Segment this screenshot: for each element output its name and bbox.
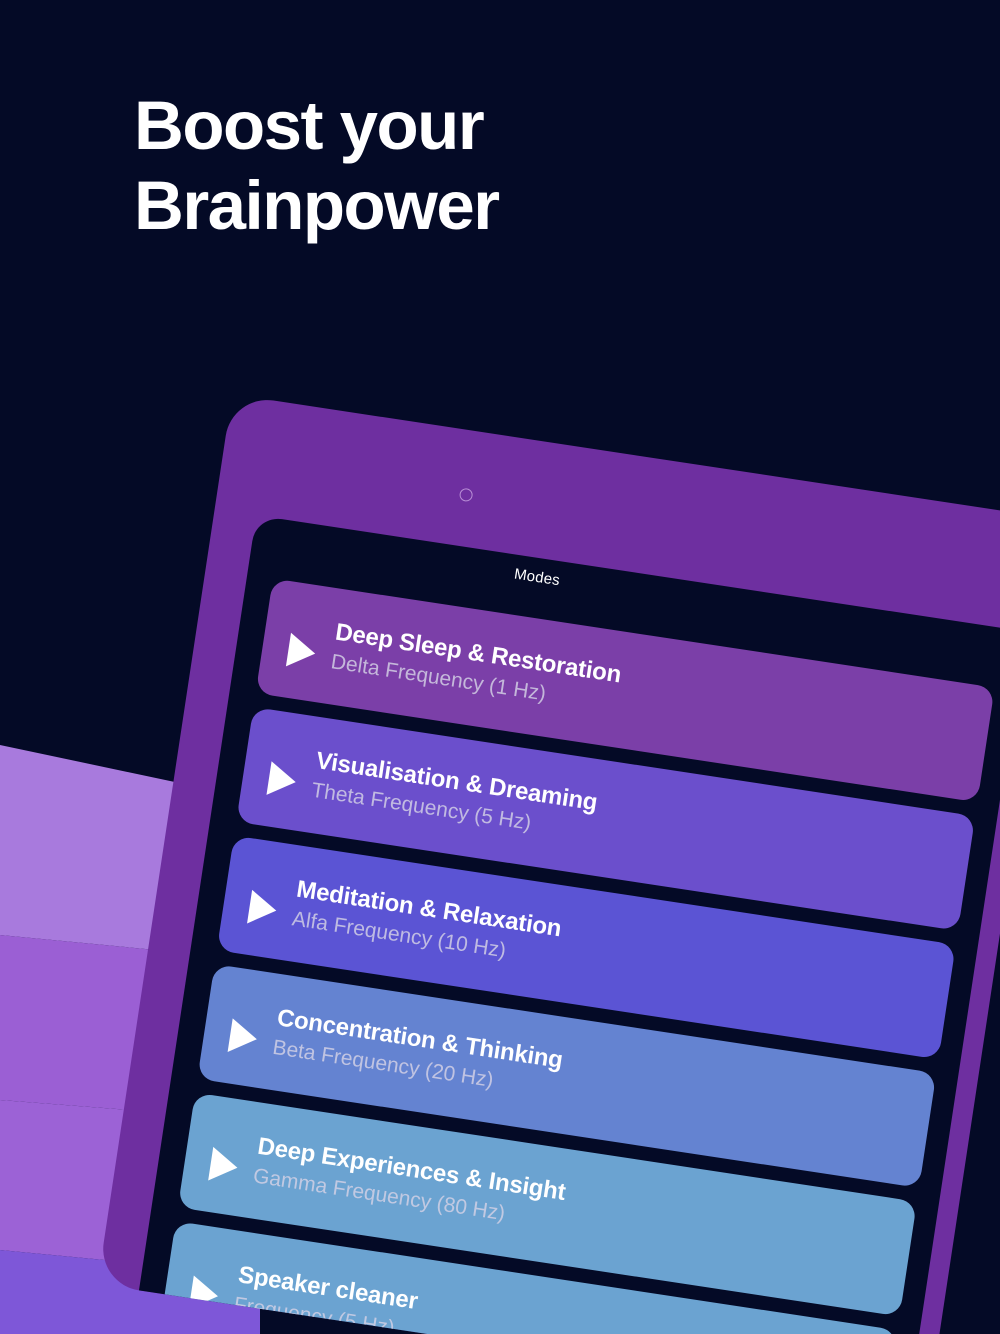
play-icon[interactable]: [228, 1018, 260, 1056]
tablet-screen: Modes Deep Sleep & RestorationDelta Freq…: [139, 515, 1000, 1334]
modes-list: Deep Sleep & RestorationDelta Frequency …: [156, 578, 994, 1334]
play-icon[interactable]: [286, 633, 318, 671]
mode-card-text: Concentration & ThinkingBeta Frequency (…: [271, 1004, 565, 1103]
tablet-device: Modes Deep Sleep & RestorationDelta Freq…: [97, 394, 1000, 1334]
mode-card-text: Visualisation & DreamingTheta Frequency …: [310, 747, 599, 845]
play-icon[interactable]: [208, 1147, 240, 1185]
play-icon[interactable]: [247, 890, 279, 928]
mode-card-text: Meditation & RelaxationAlfa Frequency (1…: [290, 876, 563, 971]
mode-card-text: Deep Sleep & RestorationDelta Frequency …: [329, 619, 623, 718]
camera-dot-icon: [459, 487, 474, 502]
play-icon[interactable]: [266, 761, 298, 799]
mode-card-text: Deep Experiences & InsightGamma Frequenc…: [252, 1133, 568, 1235]
page-title: Boost your Brainpower: [134, 86, 499, 246]
